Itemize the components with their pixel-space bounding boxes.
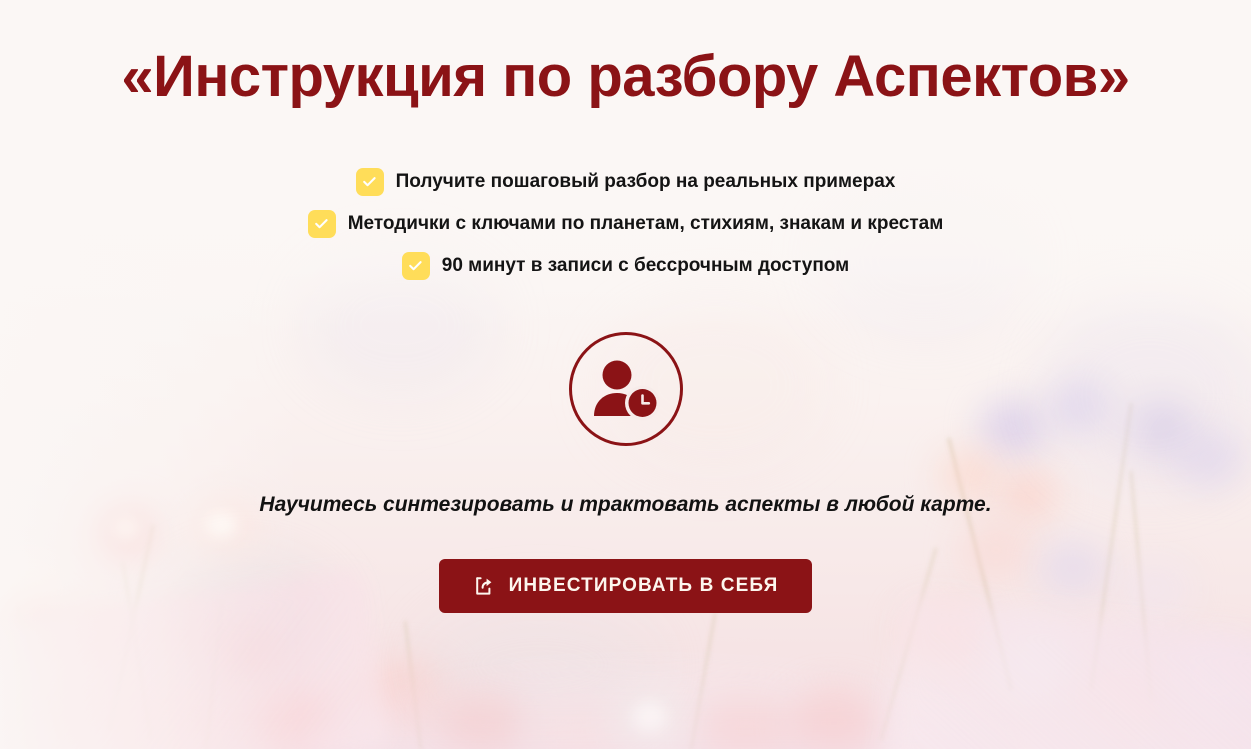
check-icon [356, 168, 384, 196]
list-item-label: 90 минут в записи с бессрочным доступом [442, 255, 849, 278]
check-icon [308, 210, 336, 238]
check-icon [402, 252, 430, 280]
tagline: Научитесь синтезировать и трактовать асп… [259, 493, 991, 517]
invest-in-yourself-button[interactable]: ИНВЕСТИРОВАТЬ В СЕБЯ [439, 559, 813, 613]
list-item: Получите пошаговый разбор на реальных пр… [356, 168, 896, 196]
list-item-label: Получите пошаговый разбор на реальных пр… [396, 171, 896, 194]
landing-hero: «Инструкция по разбору Аспектов» Получит… [0, 0, 1251, 749]
list-item-label: Методички с ключами по планетам, стихиям… [348, 213, 944, 236]
invest-in-yourself-button-label: ИНВЕСТИРОВАТЬ В СЕБЯ [509, 575, 779, 597]
person-with-clock-icon [569, 332, 683, 446]
list-item: Методички с ключами по планетам, стихиям… [308, 210, 944, 238]
share-box-arrow-icon [473, 575, 495, 597]
benefits-list: Получите пошаговый разбор на реальных пр… [308, 168, 944, 280]
list-item: 90 минут в записи с бессрочным доступом [402, 252, 849, 280]
page-title: «Инструкция по разбору Аспектов» [121, 45, 1129, 110]
